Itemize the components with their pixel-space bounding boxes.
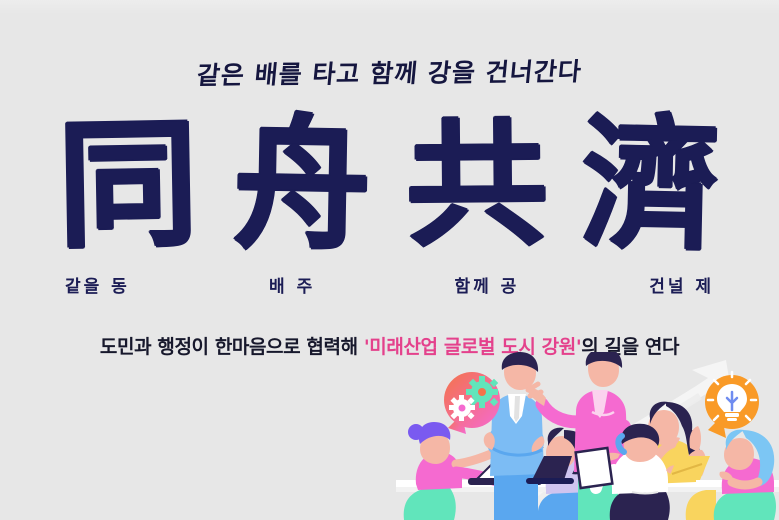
calligraphy-char-2: 舟 <box>233 113 372 259</box>
gear-speech-bubble <box>444 372 500 434</box>
reading-label-4: 건널 제 <box>584 272 779 298</box>
reading-label-3: 함께 공 <box>390 272 585 298</box>
calligraphy-char-3: 共 <box>405 117 548 253</box>
tagline: 같은 배를 타고 함께 강을 건너간다 <box>0 50 779 94</box>
calligraphy-char-1: 同 <box>57 115 200 255</box>
reading-label-2: 배 주 <box>195 272 390 298</box>
person-blue-suit <box>484 352 545 520</box>
calligraphy-block: 同 舟 共 濟 <box>0 108 779 263</box>
top-sheen <box>0 0 779 14</box>
reading-label-1: 같을 동 <box>0 272 195 298</box>
poster-canvas: 같은 배를 타고 함께 강을 건너간다 同 舟 共 濟 같을 동 배 주 함께 … <box>0 0 779 520</box>
subtitle-before: 도민과 행정이 한마음으로 협력해 <box>100 336 364 358</box>
team-meeting-illustration <box>396 352 779 520</box>
person-blue-hair <box>714 430 776 520</box>
calligraphy-char-4: 濟 <box>580 113 721 258</box>
reading-labels: 같을 동 배 주 함께 공 건널 제 <box>0 272 779 298</box>
